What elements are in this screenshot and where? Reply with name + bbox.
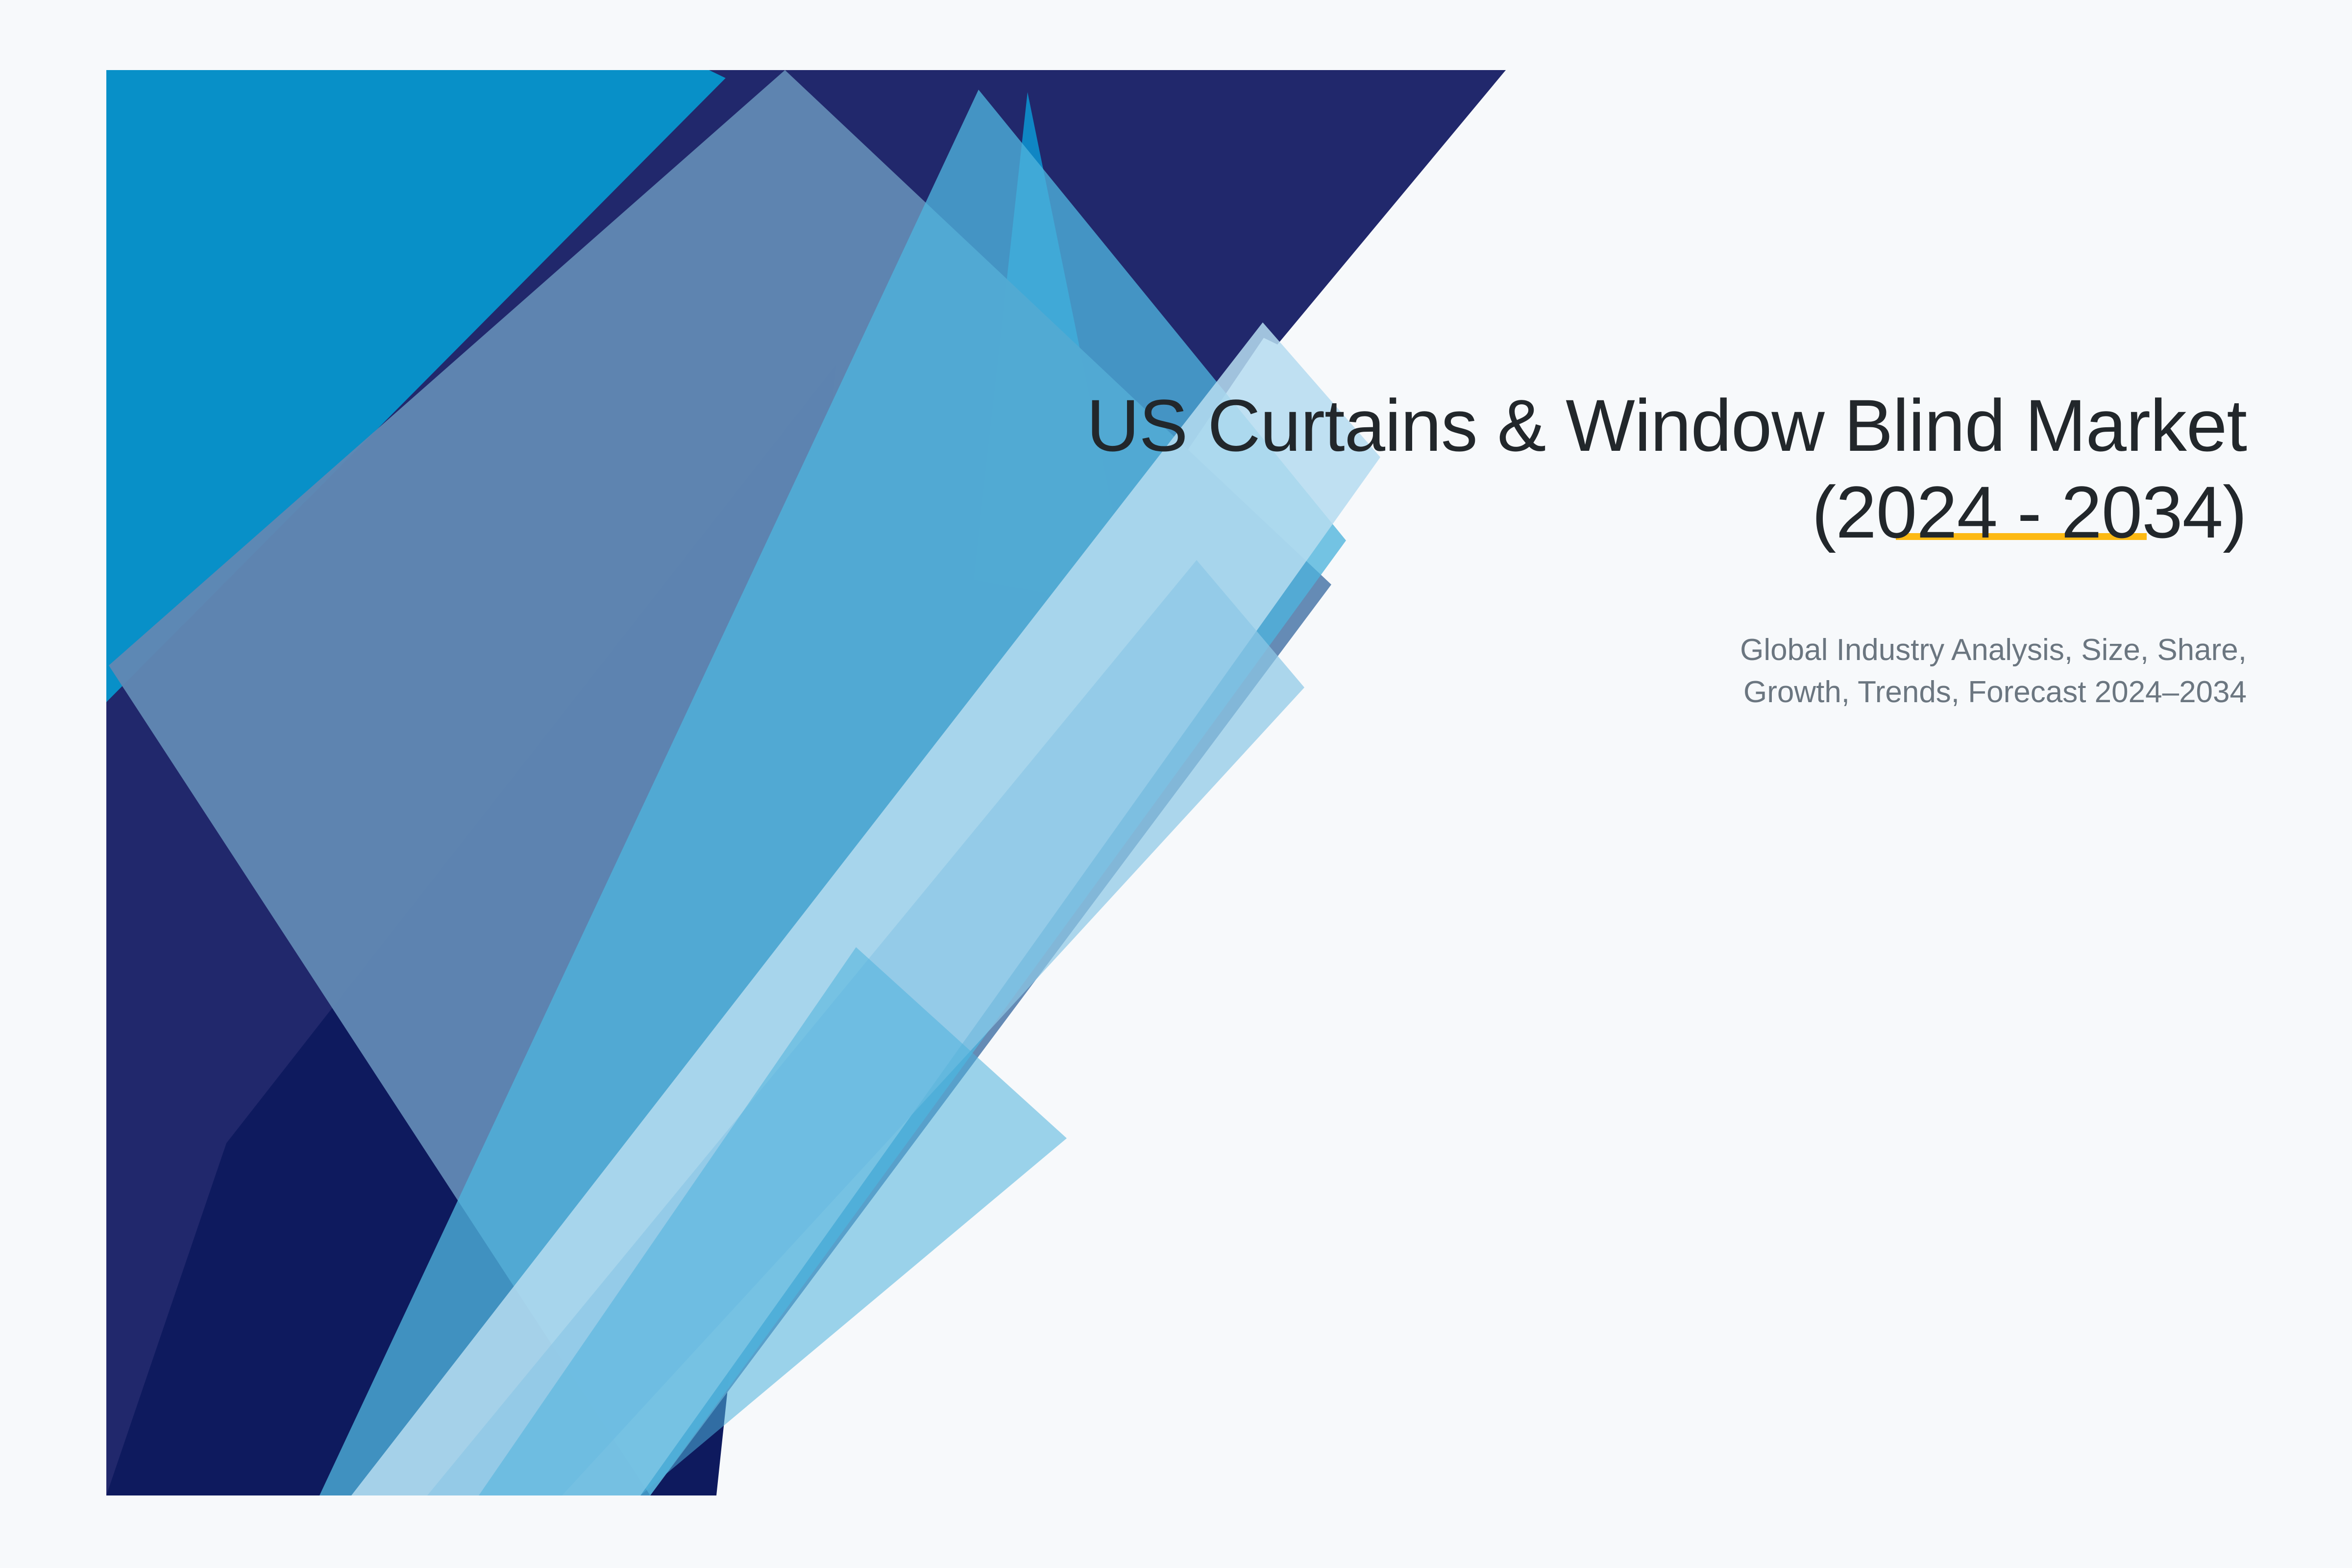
page-title: US Curtains & Window Blind Market (2024 …	[973, 382, 2247, 556]
page-subtitle: Global Industry Analysis, Size, Share, G…	[973, 629, 2247, 713]
abstract-geometric-artwork	[106, 70, 1507, 1495]
report-cover-page: US Curtains & Window Blind Market (2024 …	[0, 0, 2352, 1568]
cover-text-block: US Curtains & Window Blind Market (2024 …	[973, 382, 2247, 713]
artwork-svg	[106, 70, 1507, 1495]
